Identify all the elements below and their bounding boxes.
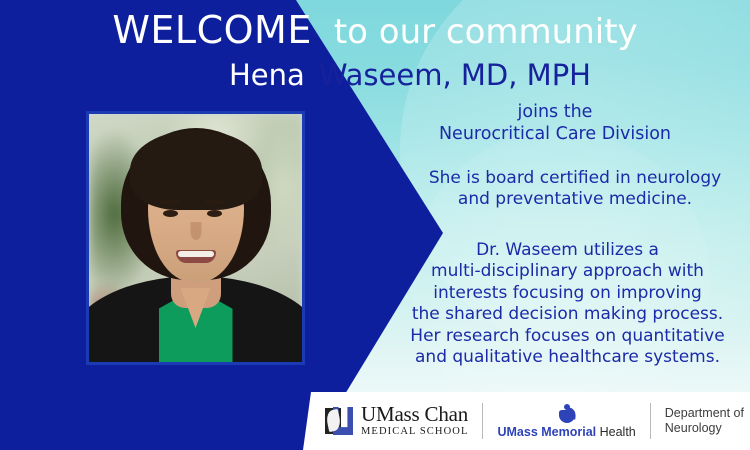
photo-eye-right	[207, 210, 222, 217]
welcome-text: WELCOME	[112, 8, 312, 52]
footer-logos: UMass Chan MEDICAL SCHOOL UMass Memorial…	[325, 392, 744, 450]
umass-chan-name: UMass Chan	[361, 404, 468, 425]
photo-eye-left	[163, 210, 178, 217]
umass-memorial-wordmark: UMass Memorial Health	[497, 426, 635, 439]
department-of-neurology-text: Department of Neurology	[665, 406, 744, 437]
umass-chan-subtitle: MEDICAL SCHOOL	[361, 427, 468, 438]
umass-memorial-name: UMass Memorial	[497, 425, 596, 439]
headline-row: WELCOMEto our community	[0, 8, 750, 52]
doctor-last-name: Waseem, MD, MPH	[319, 58, 591, 92]
community-text: to our community	[334, 12, 638, 52]
umass-chan-mark-icon	[325, 406, 354, 436]
umass-memorial-health: Health	[600, 425, 636, 439]
photo-hair-top	[130, 130, 262, 210]
headshot-photo	[86, 111, 305, 365]
photo-nose	[190, 222, 201, 240]
umass-memorial-mark-icon	[557, 404, 577, 423]
headshot-image	[89, 114, 302, 362]
research-approach-text: Dr. Waseem utilizes a multi-disciplinary…	[385, 240, 750, 368]
doctor-first-name: Hena	[229, 58, 305, 92]
board-certification-text: She is board certified in neurology and …	[400, 168, 750, 211]
footer-divider-1	[482, 403, 483, 439]
welcome-banner: WELCOMEto our community HenaWaseem, MD, …	[0, 0, 750, 450]
photo-teeth	[178, 251, 214, 257]
umass-memorial-logo: UMass Memorial Health	[497, 400, 635, 442]
footer-divider-2	[650, 403, 651, 439]
footer-logo-bar: UMass Chan MEDICAL SCHOOL UMass Memorial…	[0, 392, 750, 450]
name-row: HenaWaseem, MD, MPH	[0, 58, 750, 92]
photo-mouth	[176, 250, 216, 263]
umass-chan-logo: UMass Chan MEDICAL SCHOOL	[325, 400, 468, 442]
joins-division-text: joins the Neurocritical Care Division	[360, 101, 750, 145]
department-label: Department of Neurology	[665, 400, 744, 442]
umass-chan-wordmark: UMass Chan MEDICAL SCHOOL	[361, 404, 468, 438]
